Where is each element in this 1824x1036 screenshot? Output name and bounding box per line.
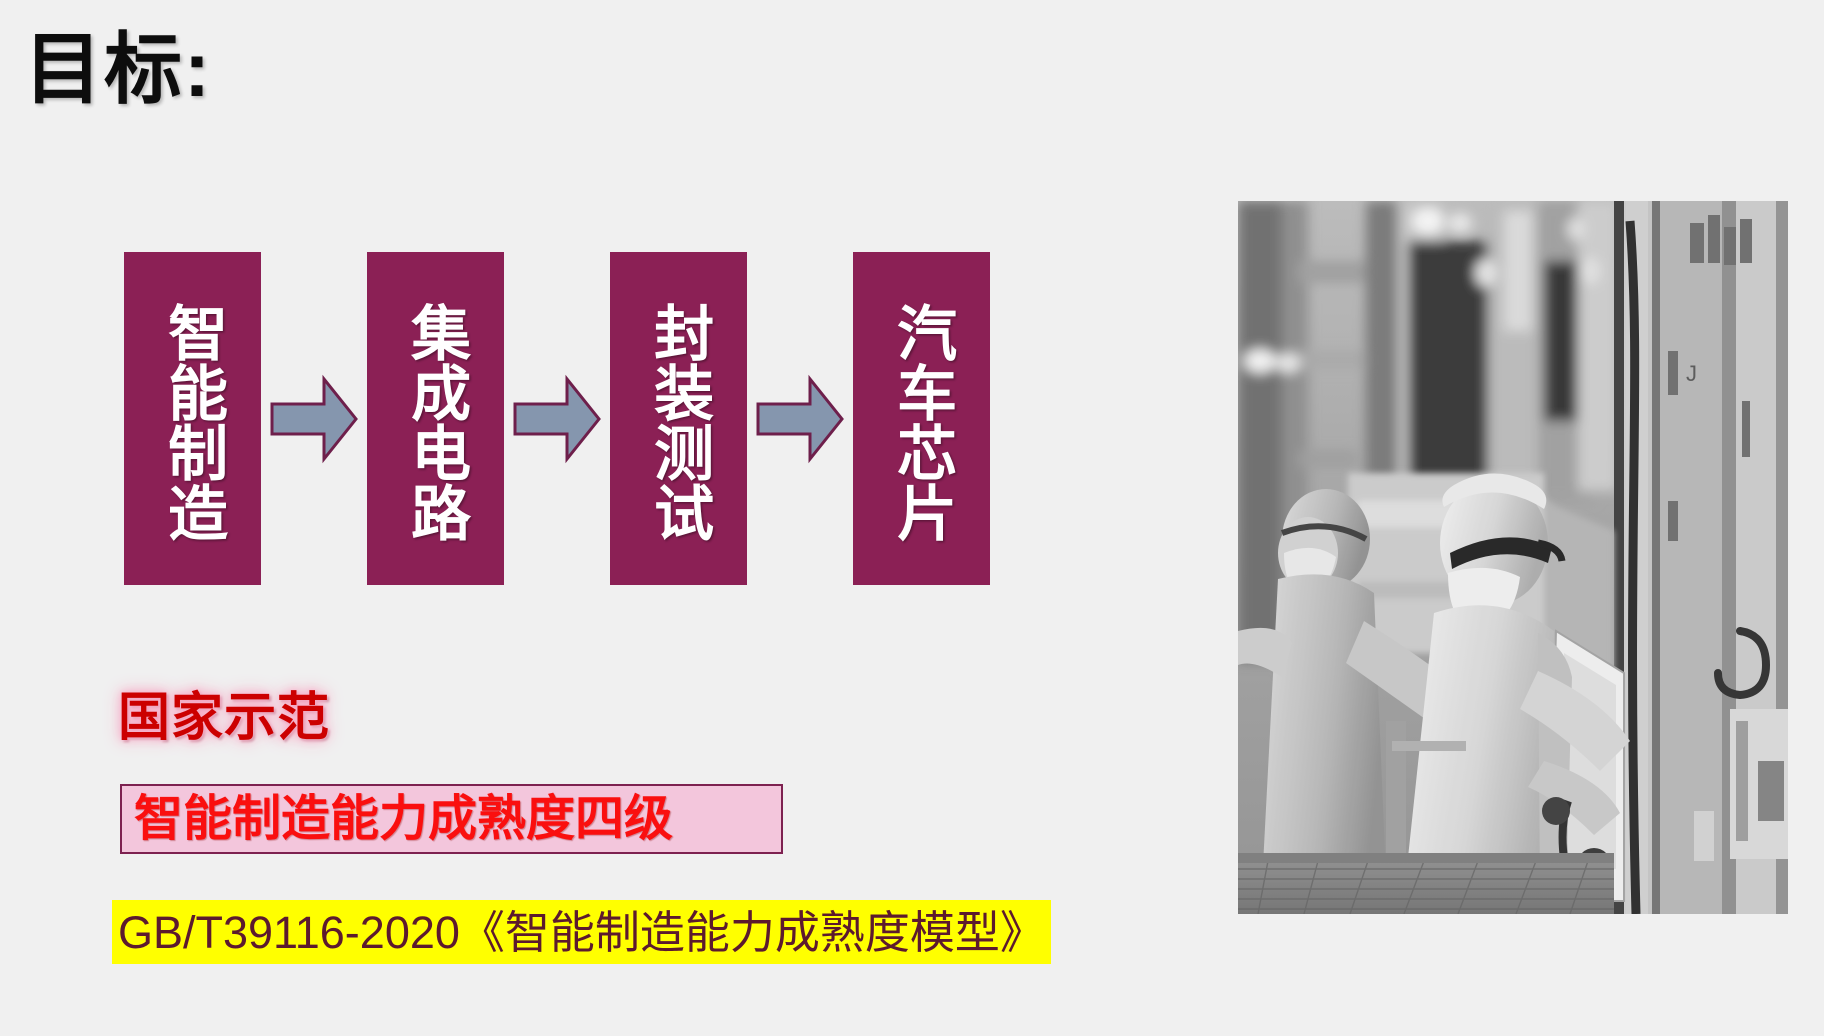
standard-reference-text: GB/T39116-2020《智能制造能力成熟度模型》	[118, 910, 1045, 955]
maturity-level-box: 智能制造能力成熟度四级	[120, 784, 783, 854]
standard-reference-highlight: GB/T39116-2020《智能制造能力成熟度模型》	[112, 900, 1051, 964]
right-arrow-icon-2	[513, 373, 601, 465]
national-demonstration-label: 国家示范	[118, 675, 330, 750]
flow-step-box-1: 智能制造	[124, 252, 261, 585]
page-title: 目标:	[24, 30, 212, 108]
process-flow-diagram: 智能制造 集成电路 封装测试 汽车芯片	[124, 252, 924, 585]
flow-step-box-3: 封装测试	[610, 252, 747, 585]
flow-step-box-2: 集成电路	[367, 252, 504, 585]
cleanroom-workers-photo: J	[1238, 201, 1788, 914]
flow-step-box-4: 汽车芯片	[853, 252, 990, 585]
slide-canvas: 目标: 智能制造 集成电路 封装测试 汽车芯片 国家示范 智能制造能力成熟度四级	[0, 0, 1824, 1036]
right-arrow-icon-3	[756, 373, 844, 465]
right-arrow-icon-1	[270, 373, 358, 465]
maturity-level-text: 智能制造能力成熟度四级	[134, 795, 673, 844]
